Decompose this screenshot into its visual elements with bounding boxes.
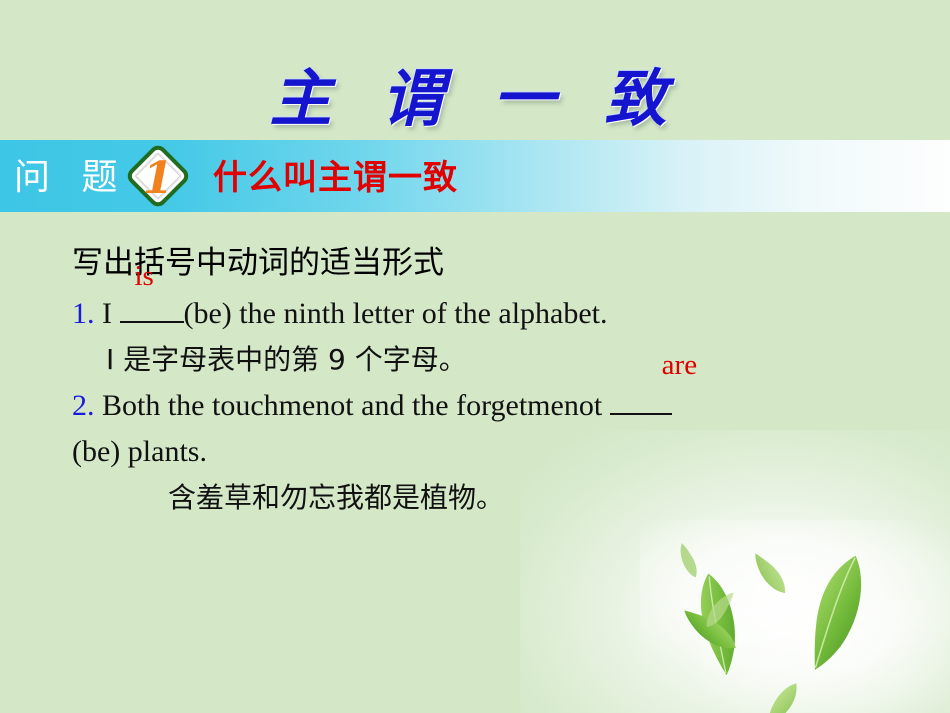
exercise-item-2: 2. Both the touchmenot and the forgetmen… — [72, 383, 932, 429]
slide-canvas: 主 谓 一 致 问 题 1 什么叫主谓一致 写出括号中动词的适当形式 1. I … — [0, 0, 950, 713]
item-text-after-blank: (be) plants. — [72, 435, 207, 468]
blank-rule — [610, 413, 672, 415]
item-number: 2. — [72, 389, 95, 422]
background-glow-medium — [640, 520, 950, 670]
background-glow-small — [700, 600, 950, 713]
leaf-icon — [674, 542, 702, 580]
answer-text: is — [135, 262, 154, 291]
leaf-icon — [703, 587, 736, 631]
blank-rule — [120, 321, 184, 323]
content-body: 写出括号中动词的适当形式 1. I is (be) the ninth lett… — [72, 243, 932, 521]
exercise-item-1: 1. I is (be) the ninth letter of the alp… — [72, 291, 932, 337]
leaf-icon — [747, 551, 793, 597]
leaf-icon — [689, 570, 750, 677]
item-text-after-blank: (be) the ninth letter of the alphabet. — [184, 297, 608, 330]
answer-text: are — [662, 351, 697, 380]
exercise-item-1-translation: I 是字母表中的第 9 个字母。 — [72, 337, 932, 383]
page-title: 主 谓 一 致 — [0, 48, 950, 138]
item-text-before-blank: I — [102, 297, 112, 330]
banner-question-text: 什么叫主谓一致 — [213, 150, 458, 199]
answer-blank-2[interactable]: are — [610, 383, 672, 429]
item-number: 1. — [72, 297, 95, 330]
banner-label-question: 问 题 — [14, 148, 127, 200]
leaf-icon — [763, 679, 802, 713]
leaf-icon — [677, 607, 742, 654]
question-number: 1 — [124, 146, 192, 210]
prompt-heading: 写出括号中动词的适当形式 — [72, 243, 932, 283]
leaf-icon — [806, 551, 868, 676]
item-text-before-blank: Both the touchmenot and the forgetmenot — [102, 389, 602, 422]
exercise-item-2-continued: (be) plants. — [72, 429, 932, 475]
exercise-item-2-translation: 含羞草和勿忘我都是植物。 — [72, 475, 932, 521]
answer-blank-1[interactable]: is — [120, 291, 184, 337]
question-number-badge: 1 — [124, 142, 192, 210]
